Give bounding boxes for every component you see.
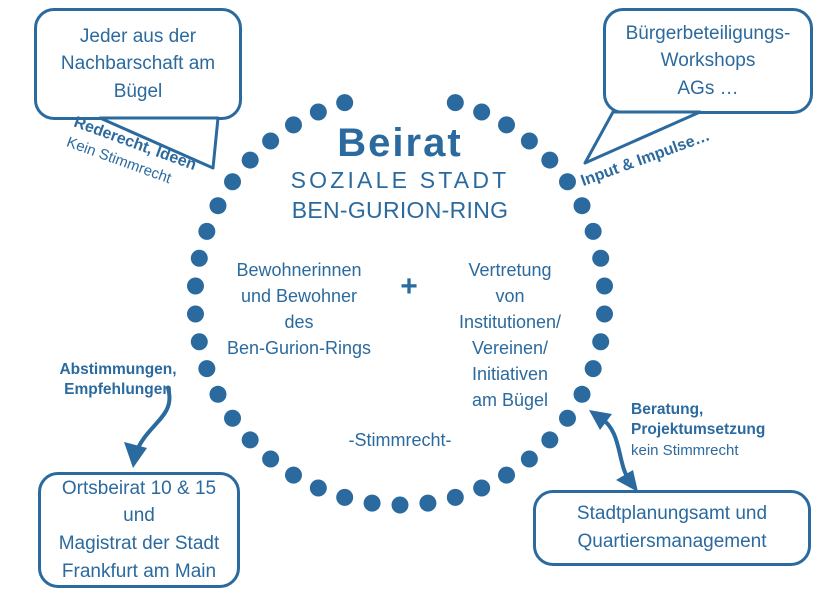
- arrow-beratung: [601, 418, 629, 480]
- diagram-canvas: Beirat SOZIALE STADT BEN-GURION-RING Bew…: [0, 0, 820, 600]
- tail-workshops: [585, 112, 700, 163]
- arrowhead-abstimmungen: [124, 442, 147, 468]
- tail-neighborhood: [100, 118, 218, 168]
- arrow-abstimmungen: [137, 388, 169, 450]
- connector-arrows: [0, 0, 820, 600]
